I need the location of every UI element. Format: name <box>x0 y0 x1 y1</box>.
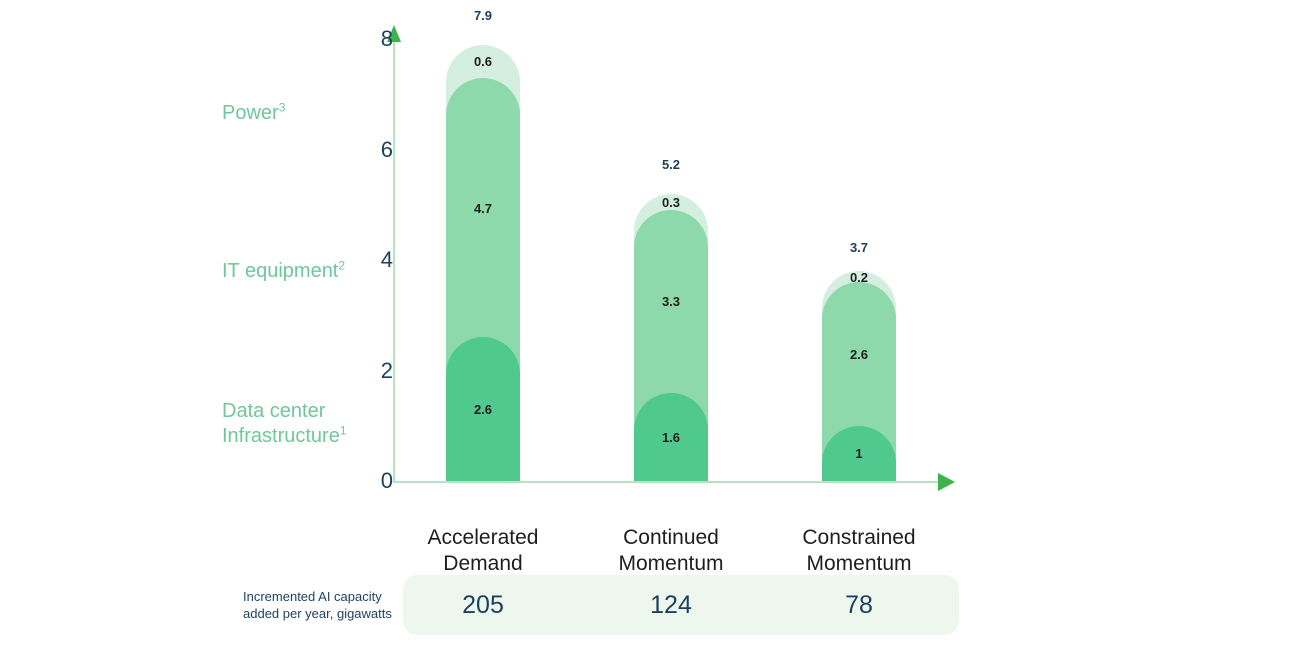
footer-value: 205 <box>388 575 578 635</box>
legend-label-it-equipment-superscript: 2 <box>338 258 345 272</box>
legend-label-it-equipment-text: IT equipment <box>222 260 338 282</box>
y-axis-tick-0: 0 <box>353 468 393 494</box>
bar-segment-value: 0.2 <box>822 270 896 285</box>
x-axis-category-label: Accelerated Demand <box>388 525 578 577</box>
bar-segment-value: 1 <box>822 446 896 461</box>
bar-total-value: 5.2 <box>634 157 708 172</box>
bar-segment-value: 2.6 <box>822 347 896 362</box>
y-axis-tick-4: 4 <box>353 247 393 273</box>
bar-column[interactable]: 2.64.70.67.9 <box>446 21 520 481</box>
legend-label-power-text: Power <box>222 102 279 124</box>
bar-column[interactable]: 1.63.30.35.2 <box>634 21 708 481</box>
y-axis-tick-6: 6 <box>353 137 393 163</box>
plot-area: 02468 2.64.70.67.91.63.30.35.212.60.23.7… <box>393 25 959 485</box>
y-axis-line <box>393 39 395 482</box>
x-axis-arrow-icon <box>938 473 955 491</box>
y-axis-tick-2: 2 <box>353 358 393 384</box>
bar-segment-value: 3.3 <box>634 294 708 309</box>
x-axis-category-label: Constrained Momentum <box>764 525 954 577</box>
legend-item-power: Power3 <box>222 101 285 126</box>
x-axis-line <box>393 481 944 483</box>
stacked-bar-chart: Power3 IT equipment2 Data center Infrast… <box>0 0 1299 655</box>
footer-value: 124 <box>576 575 766 635</box>
legend-item-data-center-infrastructure: Data center Infrastructure1 <box>222 399 347 449</box>
footer-value: 78 <box>764 575 954 635</box>
footer-caption: Incremented AI capacity added per year, … <box>243 588 403 622</box>
legend-label-power-superscript: 3 <box>279 100 286 114</box>
bar-total-value: 7.9 <box>446 8 520 23</box>
bar-segment-value: 2.6 <box>446 402 520 417</box>
bar-segment-value: 0.6 <box>446 54 520 69</box>
bar-segment-value: 0.3 <box>634 195 708 210</box>
x-axis-category-label: Continued Momentum <box>576 525 766 577</box>
bar-segment-value: 1.6 <box>634 430 708 445</box>
bar-total-value: 3.7 <box>822 240 896 255</box>
legend-label-data-center-text: Data center Infrastructure <box>222 400 340 447</box>
bar-column[interactable]: 12.60.23.7 <box>822 21 896 481</box>
legend-item-it-equipment: IT equipment2 <box>222 259 345 284</box>
y-axis-tick-8: 8 <box>353 26 393 52</box>
bar-segment-value: 4.7 <box>446 201 520 216</box>
legend-label-data-center-superscript: 1 <box>340 423 347 437</box>
